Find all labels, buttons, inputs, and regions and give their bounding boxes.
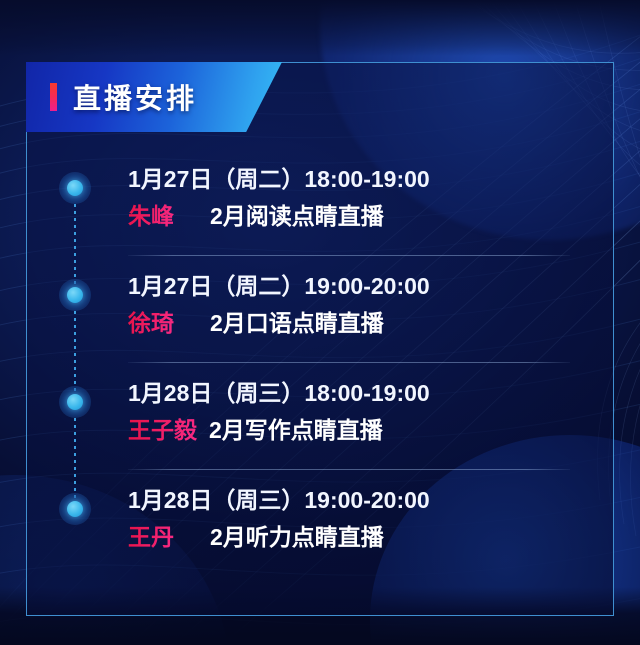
schedule-row[interactable]: 1月27日（周二）19:00-20:00 徐琦 2月口语点睛直播 [26,255,614,362]
session-datetime: 1月27日（周二）19:00-20:00 [128,271,594,301]
timeline-dot-icon [59,172,91,204]
schedule-row-text: 1月28日（周三）19:00-20:00 王丹 2月听力点睛直播 [128,485,594,552]
session-course: 2月口语点睛直播 [210,308,384,338]
accent-bar-icon [50,83,57,111]
schedule-row[interactable]: 1月28日（周三）19:00-20:00 王丹 2月听力点睛直播 [26,469,614,576]
row-separator [128,469,570,470]
row-separator [128,362,570,363]
title-banner: 直播安排 [26,62,282,132]
timeline-dot-core [67,180,83,196]
background-vignette-top [0,0,640,56]
timeline-dot-icon [59,386,91,418]
session-course: 2月阅读点睛直播 [210,201,384,231]
session-teacher: 王子毅 [128,415,197,445]
session-detail: 王子毅 2月写作点睛直播 [128,415,594,445]
timeline-dot-icon [59,493,91,525]
timeline-dot-core [67,501,83,517]
timeline-dot-icon [59,279,91,311]
session-datetime: 1月28日（周三）19:00-20:00 [128,485,594,515]
schedule-row[interactable]: 1月28日（周三）18:00-19:00 王子毅 2月写作点睛直播 [26,362,614,469]
session-datetime: 1月27日（周二）18:00-19:00 [128,164,594,194]
timeline-dot-core [67,287,83,303]
row-separator [128,255,570,256]
poster-root: 直播安排 1月27日（周二）18:00-19:00 朱峰 2月阅读点睛直播 [0,0,640,645]
session-teacher: 王丹 [128,522,174,552]
session-teacher: 朱峰 [128,201,174,231]
schedule-row[interactable]: 1月27日（周二）18:00-19:00 朱峰 2月阅读点睛直播 [26,148,614,255]
schedule-row-text: 1月28日（周三）18:00-19:00 王子毅 2月写作点睛直播 [128,378,594,445]
schedule-row-text: 1月27日（周二）19:00-20:00 徐琦 2月口语点睛直播 [128,271,594,338]
schedule-row-text: 1月27日（周二）18:00-19:00 朱峰 2月阅读点睛直播 [128,164,594,231]
session-datetime: 1月28日（周三）18:00-19:00 [128,378,594,408]
session-teacher: 徐琦 [128,308,174,338]
session-detail: 王丹 2月听力点睛直播 [128,522,594,552]
session-course: 2月写作点睛直播 [209,415,383,445]
page-title: 直播安排 [73,77,197,117]
timeline-dot-core [67,394,83,410]
session-course: 2月听力点睛直播 [210,522,384,552]
schedule-list: 1月27日（周二）18:00-19:00 朱峰 2月阅读点睛直播 1月27日（周… [26,148,614,576]
session-detail: 徐琦 2月口语点睛直播 [128,308,594,338]
session-detail: 朱峰 2月阅读点睛直播 [128,201,594,231]
